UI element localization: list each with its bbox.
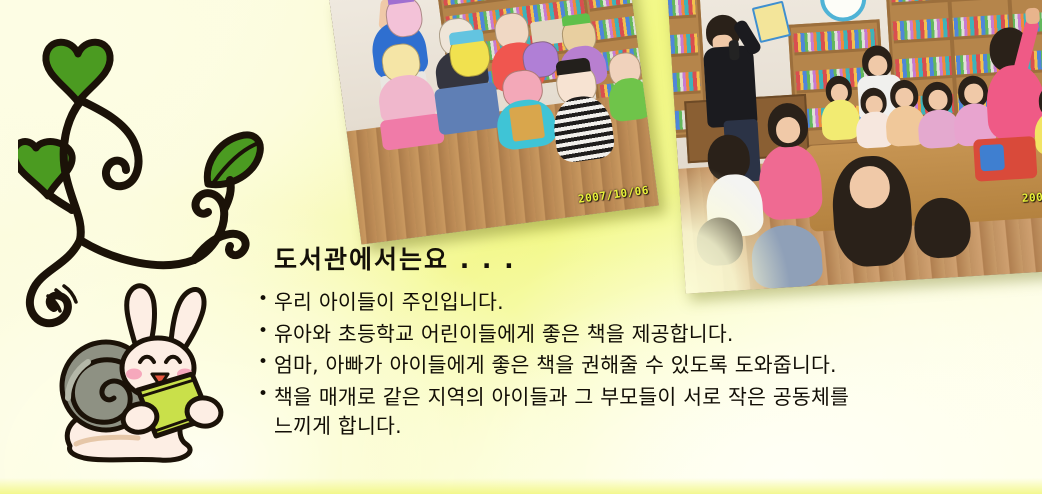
heart-leaf-top-icon	[46, 42, 110, 102]
bottom-color-band	[0, 478, 1042, 494]
poster-canvas: 2007/10/06	[0, 0, 1042, 494]
list-item: 우리 아이들이 주인입니다.	[258, 288, 1028, 318]
vine-and-mascot-illustration	[18, 24, 278, 464]
list-item: 엄마, 아빠가 아이들에게 좋은 책을 권해줄 수 있도록 도와줍니다.	[258, 351, 1028, 381]
photo-2-datestamp: 2007/1	[1022, 189, 1042, 205]
snail-bunny-mascot	[48, 286, 223, 461]
library-promise-list: 우리 아이들이 주인입니다. 유아와 초등학교 어린이들에게 좋은 책을 제공합…	[258, 288, 1028, 442]
list-item: 유아와 초등학교 어린이들에게 좋은 책을 제공합니다.	[258, 320, 1028, 350]
pointed-leaf-right-icon	[207, 135, 260, 185]
list-item: 책을 매개로 같은 지역의 아이들과 그 부모들이 서로 작은 공동체를 느끼게…	[258, 383, 1028, 442]
library-message-block: 도서관에서는요 . . . 우리 아이들이 주인입니다. 유아와 초등학교 어린…	[258, 240, 1028, 444]
photo-children-with-masks: 2007/10/06	[329, 0, 659, 245]
page-title: 도서관에서는요 . . .	[274, 240, 1028, 276]
